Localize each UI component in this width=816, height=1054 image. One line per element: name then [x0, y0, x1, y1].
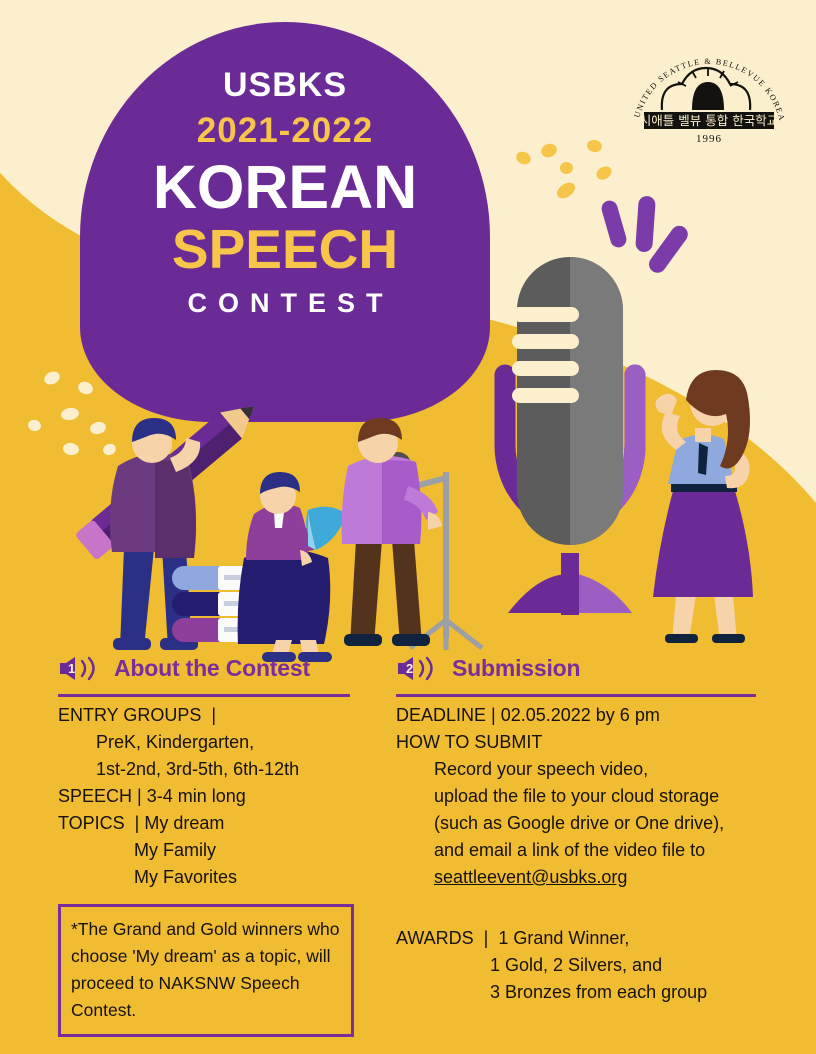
content-area: 1 About the Contest ENTRY GROUPS | PreK,…	[0, 648, 816, 1054]
speaker-wave-icon: 2	[396, 656, 443, 681]
awards-block: AWARDS | 1 Grand Winner, 1 Gold, 2 Silve…	[396, 925, 768, 1006]
section-divider	[58, 694, 350, 697]
section-header: 2 Submission	[396, 648, 768, 688]
poster: USBKS 2021-2022 KOREAN SPEECH CONTEST	[0, 0, 816, 1054]
section-header: 1 About the Contest	[58, 648, 358, 688]
section-submission: 2 Submission DEADLINE | 02.05.2022 by 6 …	[396, 648, 768, 1006]
logo-korean-name: 시애틀 벨뷰 통합 한국학교	[640, 113, 778, 128]
section-divider	[396, 694, 756, 697]
note-box: *The Grand and Gold winners who choose '…	[58, 904, 354, 1037]
awards-line: AWARDS | 1 Grand Winner,	[396, 925, 768, 952]
person-reading-illustration	[238, 472, 346, 662]
body-line: upload the file to your cloud storage	[396, 783, 768, 810]
awards-line: 1 Gold, 2 Silvers, and	[396, 952, 768, 979]
body-line: 1st-2nd, 3rd-5th, 6th-12th	[58, 756, 358, 783]
section-badge-number: 1	[68, 661, 75, 676]
body-line: and email a link of the video file to	[396, 837, 768, 864]
body-line: (such as Google drive or One drive),	[396, 810, 768, 837]
school-logo: UNITED SEATTLE & BELLEVUE KOREAN SCHOOL …	[626, 32, 792, 148]
section-title: About the Contest	[114, 655, 310, 682]
person-speaking-illustration	[342, 418, 442, 646]
body-line: Record your speech video,	[396, 756, 768, 783]
section-about-the-contest: 1 About the Contest ENTRY GROUPS | PreK,…	[58, 648, 358, 1037]
body-line: My Family	[58, 837, 358, 864]
body-line: SPEECH | 3-4 min long	[58, 783, 358, 810]
body-line: HOW TO SUBMIT	[396, 729, 768, 756]
section-badge-number: 2	[406, 661, 413, 676]
logo-year: 1996	[696, 133, 722, 145]
section-body: ENTRY GROUPS | PreK, Kindergarten, 1st-2…	[58, 702, 358, 891]
awards-line: 3 Bronzes from each group	[396, 979, 768, 1006]
submission-email-link[interactable]: seattleevent@usbks.org	[396, 864, 768, 891]
section-title: Submission	[452, 655, 580, 682]
body-line: TOPICS | My dream	[58, 810, 358, 837]
section-body: DEADLINE | 02.05.2022 by 6 pm HOW TO SUB…	[396, 702, 768, 891]
body-line: DEADLINE | 02.05.2022 by 6 pm	[396, 702, 768, 729]
body-line: ENTRY GROUPS |	[58, 702, 358, 729]
body-line: My Favorites	[58, 864, 358, 891]
body-line: PreK, Kindergarten,	[58, 729, 358, 756]
speaker-wave-icon: 1	[58, 656, 105, 681]
